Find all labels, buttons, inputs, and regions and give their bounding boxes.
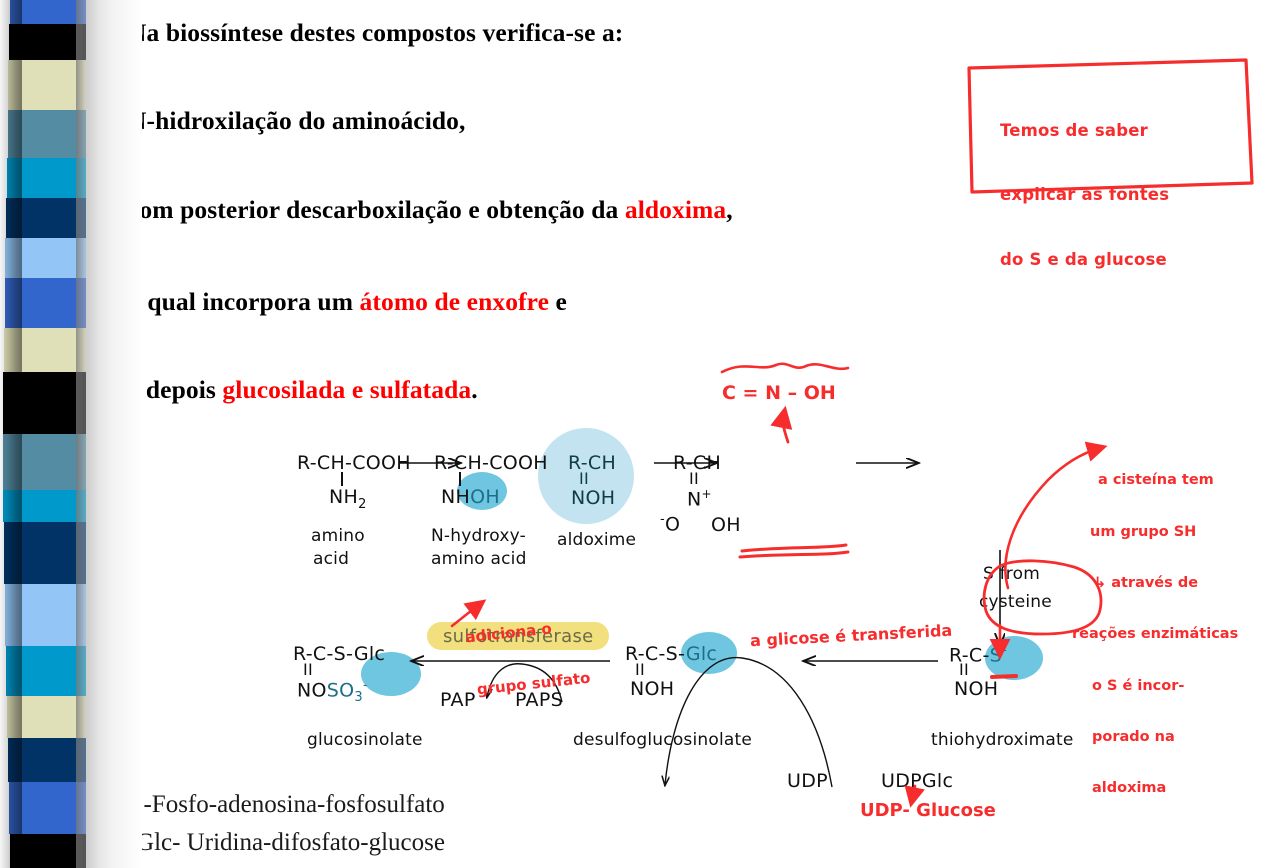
body-line-4: a qual incorpora um átomo de enxofre e [128,287,567,317]
glucosinolate-so3-charge: - [363,678,368,692]
cysteine-note-line-1: a cisteína tem [1098,472,1238,489]
label-glucosinolate: glucosinolate [307,730,423,750]
structure-aldoxime-line3: NOH [571,487,615,509]
body-line-4-text: a qual incorpora um [128,287,360,316]
handwriting-sulfate-note: adiciona o grupo sulfato [461,582,595,735]
handwriting-udp-glucose: UDP- Glucose [860,800,996,821]
structure-aldoxime-line1: R-CH [568,452,616,474]
structure-glucosinolate-line2: II [303,660,313,679]
body-line-1: Na biossíntese destes compostos verifica… [128,18,623,48]
structure-acinitro-oxyanion: -O [660,512,680,535]
glucosinolate-no-label: NO [297,679,327,701]
label-s-from-cysteine-line1: S from [983,564,1040,584]
cysteine-note-line-7: aldoxima [1092,780,1238,797]
amino-nh-subscript: 2 [358,497,367,512]
label-amino-acid-line1: amino [311,526,365,546]
thio-rc-label: R-C- [949,644,990,666]
structure-thiohydroximate-line1: R-C-S- [949,643,1007,666]
label-udp: UDP [787,770,828,792]
body-line-2: N-hidroxilação do aminoácido, [128,106,466,136]
acinitro-n-label: N [687,488,702,510]
bond-amino-acid [341,472,343,486]
body-line-2-text: N-hidroxilação do aminoácido, [128,106,466,135]
structure-aldoxime-line2: II [579,469,589,488]
decorative-stripe-column [0,0,108,868]
nhydroxy-oh-label: OH [470,486,500,508]
body-line-3-post: , [726,195,732,224]
stripe-right-shadow [76,0,108,868]
structure-amino-acid-substituent: NH2 [329,486,367,512]
body-line-3-text: com posterior descarboxilação e obtenção… [128,195,625,224]
body-line-3: com posterior descarboxilação e obtenção… [128,195,733,225]
structure-acinitro-line2: II [689,469,699,488]
label-amino-acid-line2: acid [313,549,349,569]
cysteine-note-line-6: porado na [1092,729,1238,746]
structure-nhydroxy-substituent: NHOH [441,486,500,508]
label-s-from-cysteine-line2: cysteine [979,592,1052,612]
handwriting-cysteine-note: a cisteína tem um grupo SH ↳ através de … [1098,438,1238,832]
note-box-handwriting: Temos de saber explicar as fontes do S e… [1000,82,1169,308]
note-box-line-1: Temos de saber [1000,121,1169,140]
label-nhydroxy-line2: amino acid [431,549,527,569]
glucosinolate-biosynthesis-diagram: R-CH-COOH NH2 amino acid R-CH-COOH NHOH … [283,424,1113,804]
label-desulfoglucosinolate: desulfoglucosinolate [573,730,752,750]
structure-thiohydroximate-line2: II [959,660,969,679]
acinitro-o-label: O [665,513,680,535]
glucosinolate-so3-subscript: 3 [354,690,363,705]
label-udpglc: UDPGlc [881,770,953,792]
desulfo-glc-label: Glc [686,643,717,665]
structure-desulfo-line3: NOH [630,678,674,700]
structure-acinitro-hydroxyl: OH [711,514,741,536]
body-line-3-red: aldoxima [625,195,726,224]
thio-s-label: S [990,644,1002,666]
structure-amino-acid-backbone: R-CH-COOH [297,452,411,474]
label-aldoxime: aldoxime [557,530,636,550]
glucosinolate-so-label: SO [327,679,355,701]
acinitro-plus-charge: + [702,487,712,501]
cysteine-note-line-3: ↳ através de [1094,575,1238,592]
sulfate-note-line-2: grupo sulfato [476,670,591,700]
slide-canvas: Na biossíntese destes compostos verifica… [0,0,1266,868]
note-box-line-3: do S e da glucose [1000,250,1169,269]
cysteine-note-line-2: um grupo SH [1090,524,1238,541]
bond-nhydroxy [459,472,461,486]
structure-glucosinolate-line3: NOSO3- [297,678,368,705]
label-thiohydroximate: thiohydroximate [931,730,1074,750]
label-nhydroxy-line1: N-hydroxy- [431,526,526,546]
body-line-5-red: glucosilada e sulfatada [222,375,471,404]
cysteine-note-line-4: reações enzimáticas [1072,626,1238,643]
sulfate-note-line-1: adiciona o [465,617,586,647]
amino-nh-label: NH [329,486,358,508]
nhydroxy-nh-label: NH [441,486,470,508]
thio-s-charge: - [1002,643,1007,658]
structure-thiohydroximate-line3: NOH [954,678,998,700]
body-line-4-post: e [549,287,567,316]
structure-desulfo-line2: II [635,660,645,679]
body-line-5-text: é depois [128,375,222,404]
body-line-1-text: Na biossíntese destes compostos verifica… [128,18,623,47]
body-line-5: é depois glucosilada e sulfatada. [128,375,478,405]
stripe-left-shadow [0,0,22,868]
note-box-line-2: explicar as fontes [1000,185,1169,204]
cysteine-note-line-5: o S é incor- [1092,678,1238,695]
body-line-5-post: . [471,375,477,404]
structure-nhydroxy-backbone: R-CH-COOH [434,452,548,474]
squiggle-above-cnoh [722,364,848,372]
handwriting-c-n-oh: C = N – OH [722,382,836,404]
body-line-4-red: átomo de enxofre [360,287,550,316]
structure-acinitro-nitrogen: N+ [687,487,712,510]
